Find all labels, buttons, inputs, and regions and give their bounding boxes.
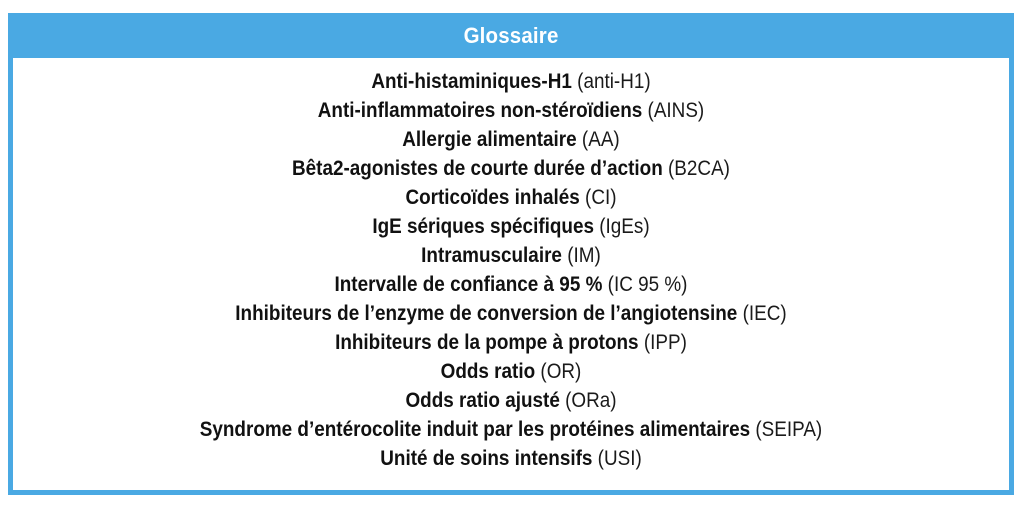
glossary-term: Unité de soins intensifs <box>380 447 592 470</box>
list-item: Odds ratio (OR) <box>63 357 959 386</box>
glossary-term: Bêta2-agonistes de courte durée d’action <box>292 157 663 180</box>
glossary-abbreviation: (OR) <box>540 360 581 383</box>
glossary-abbreviation: (B2CA) <box>668 157 730 180</box>
glossary-list: Anti-histaminiques-H1 (anti-H1)Anti-infl… <box>13 67 1009 473</box>
glossary-abbreviation: (AA) <box>582 128 620 151</box>
list-item: Anti-histaminiques-H1 (anti-H1) <box>63 67 959 96</box>
list-item: Inhibiteurs de l’enzyme de conversion de… <box>63 299 959 328</box>
glossary-term: Odds ratio ajusté <box>405 389 559 412</box>
list-item: Inhibiteurs de la pompe à protons (IPP) <box>63 328 959 357</box>
glossary-term: Intramusculaire <box>421 244 562 267</box>
glossary-term: Odds ratio <box>441 360 536 383</box>
list-item: Allergie alimentaire (AA) <box>63 125 959 154</box>
glossary-term: Anti-histaminiques-H1 <box>371 70 572 93</box>
glossary-abbreviation: (IPP) <box>644 331 687 354</box>
glossary-abbreviation: (USI) <box>598 447 642 470</box>
glossary-abbreviation: (CI) <box>585 186 617 209</box>
panel-header: Glossaire <box>8 13 1014 58</box>
glossary-term: Inhibiteurs de l’enzyme de conversion de… <box>235 302 737 325</box>
glossary-term: Inhibiteurs de la pompe à protons <box>335 331 638 354</box>
list-item: Unité de soins intensifs (USI) <box>63 444 959 473</box>
glossary-abbreviation: (IC 95 %) <box>608 273 688 296</box>
glossary-body: Anti-histaminiques-H1 (anti-H1)Anti-infl… <box>13 58 1009 490</box>
list-item: Corticoïdes inhalés (CI) <box>63 183 959 212</box>
glossary-abbreviation: (IgEs) <box>599 215 649 238</box>
glossary-term: Anti-inflammatoires non-stéroïdiens <box>318 99 642 122</box>
glossary-term: Corticoïdes inhalés <box>405 186 579 209</box>
list-item: Odds ratio ajusté (ORa) <box>63 386 959 415</box>
glossary-abbreviation: (AINS) <box>648 99 705 122</box>
glossary-term: Allergie alimentaire <box>402 128 576 151</box>
glossary-panel: Glossaire Anti-histaminiques-H1 (anti-H1… <box>8 13 1014 495</box>
list-item: IgE sériques spécifiques (IgEs) <box>63 212 959 241</box>
glossary-term: Intervalle de confiance à 95 % <box>335 273 603 296</box>
list-item: Anti-inflammatoires non-stéroïdiens (AIN… <box>63 96 959 125</box>
glossary-abbreviation: (anti-H1) <box>577 70 651 93</box>
page-title: Glossaire <box>464 23 559 49</box>
glossary-abbreviation: (ORa) <box>565 389 616 412</box>
list-item: Intramusculaire (IM) <box>63 241 959 270</box>
glossary-term: Syndrome d’entérocolite induit par les p… <box>200 418 750 441</box>
glossary-abbreviation: (IEC) <box>743 302 787 325</box>
glossary-term: IgE sériques spécifiques <box>372 215 594 238</box>
list-item: Bêta2-agonistes de courte durée d’action… <box>63 154 959 183</box>
list-item: Syndrome d’entérocolite induit par les p… <box>63 415 959 444</box>
glossary-abbreviation: (IM) <box>567 244 601 267</box>
list-item: Intervalle de confiance à 95 % (IC 95 %) <box>63 270 959 299</box>
glossary-abbreviation: (SEIPA) <box>755 418 822 441</box>
